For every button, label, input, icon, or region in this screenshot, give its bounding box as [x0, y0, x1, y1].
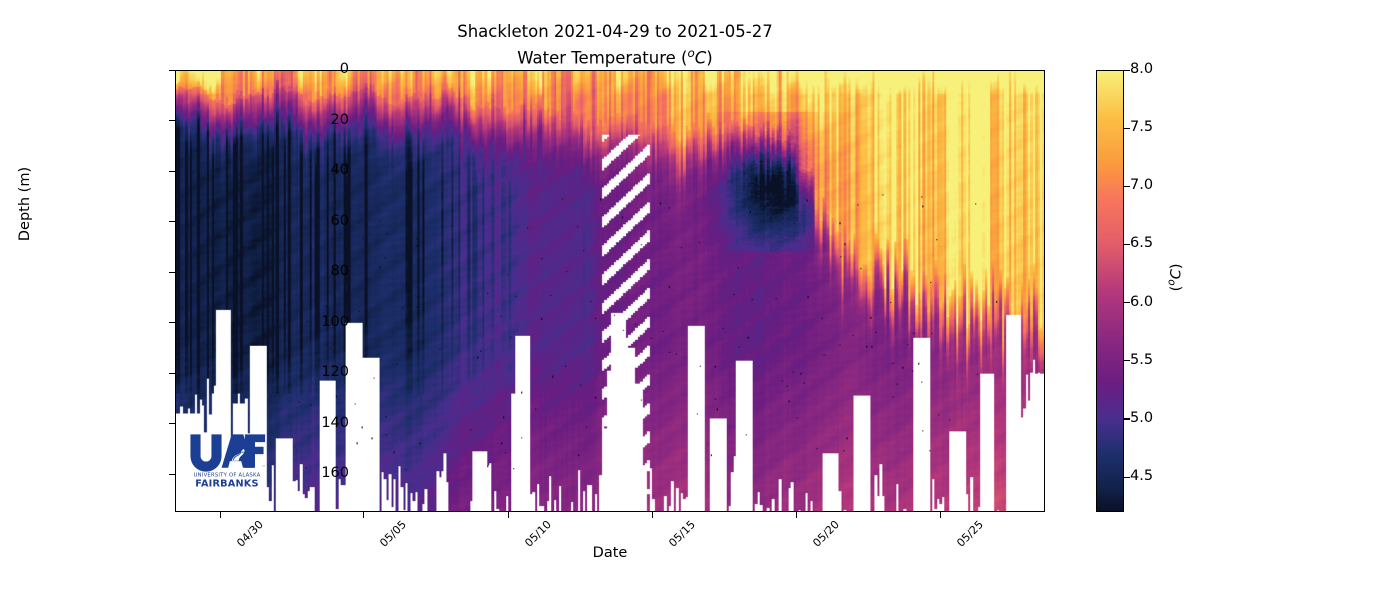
- x-tick-mark: [508, 512, 509, 518]
- colorbar-tick-label: 7.0: [1130, 177, 1153, 193]
- colorbar-tick-label: 5.5: [1130, 352, 1153, 368]
- y-tick-label: 20: [259, 112, 349, 128]
- figure-canvas: Shackleton 2021-04-29 to 2021-05-27 Wate…: [0, 0, 1400, 600]
- y-tick-mark: [169, 171, 175, 172]
- plot-area: [175, 70, 1045, 512]
- y-tick-label: 0: [259, 61, 349, 77]
- colorbar-gradient: [1096, 70, 1124, 512]
- subtitle-suffix: ): [706, 49, 712, 68]
- y-tick-label: 40: [259, 162, 349, 178]
- colorbar-tick-label: 4.5: [1130, 468, 1153, 484]
- uaf-logo-line1: UNIVERSITY OF ALASKA: [194, 473, 261, 479]
- y-tick-mark: [169, 70, 175, 71]
- subtitle-prefix: Water Temperature (: [517, 49, 687, 68]
- y-tick-mark: [169, 474, 175, 475]
- y-tick-label: 100: [259, 314, 349, 330]
- y-tick-label: 80: [259, 263, 349, 279]
- colorbar-degree-symbol: o: [1166, 279, 1178, 285]
- y-tick-label: 120: [259, 364, 349, 380]
- colorbar-tick-label: 8.0: [1130, 61, 1153, 77]
- y-tick-mark: [169, 373, 175, 374]
- x-tick-mark: [652, 512, 653, 518]
- colorbar-tick-label: 5.0: [1130, 410, 1153, 426]
- x-axis-label: Date: [175, 545, 1045, 561]
- x-tick-mark: [796, 512, 797, 518]
- uaf-logo-line2: FAIRBANKS: [195, 478, 259, 488]
- colorbar-tick-label: 6.5: [1130, 235, 1153, 251]
- colorbar: [1096, 70, 1124, 512]
- figure-subtitle: Water Temperature (oC): [0, 46, 1230, 68]
- colorbar-tick-label: 7.5: [1130, 119, 1153, 135]
- uaf-logo: ™ UNIVERSITY OF ALASKA FAIRBANKS: [188, 432, 266, 488]
- y-tick-mark: [169, 423, 175, 424]
- subtitle-degree-symbol: o: [688, 46, 695, 60]
- y-tick-mark: [169, 272, 175, 273]
- colorbar-tick-label: 6.0: [1130, 294, 1153, 310]
- y-tick-mark: [169, 120, 175, 121]
- y-tick-label: 60: [259, 213, 349, 229]
- colorbar-celsius: C: [1168, 269, 1184, 279]
- y-tick-label: 160: [259, 465, 349, 481]
- y-tick-mark: [169, 322, 175, 323]
- y-tick-label: 140: [259, 415, 349, 431]
- x-tick-mark: [940, 512, 941, 518]
- temperature-heatmap: [176, 71, 1044, 511]
- figure-title: Shackleton 2021-04-29 to 2021-05-27: [0, 22, 1230, 41]
- y-axis-label: Depth (m): [17, 109, 33, 299]
- colorbar-label: (oC): [1166, 207, 1185, 347]
- y-tick-mark: [169, 221, 175, 222]
- x-tick-mark: [363, 512, 364, 518]
- x-tick-mark: [220, 512, 221, 518]
- subtitle-celsius: C: [695, 49, 707, 68]
